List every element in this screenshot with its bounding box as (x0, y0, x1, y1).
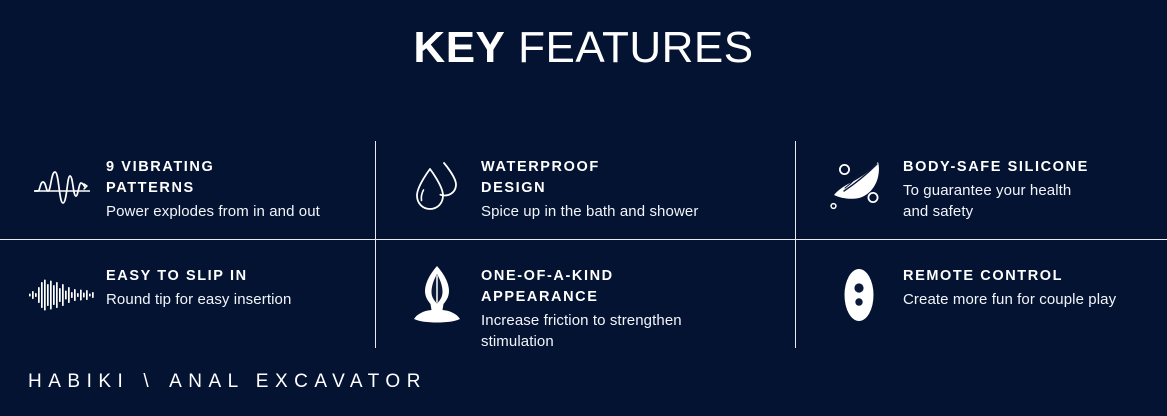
page-title-bold: KEY (413, 23, 505, 72)
feature-text: REMOTE CONTROL Create more fun for coupl… (903, 264, 1116, 310)
feature-cell-one-of-a-kind-appearance: ONE-OF-A-KIND APPEARANCE Increase fricti… (375, 239, 795, 348)
feature-title: EASY TO SLIP IN (106, 266, 291, 287)
feature-text: 9 VIBRATING PATTERNS Power explodes from… (106, 155, 320, 222)
footer-brand: HABIKI (28, 371, 129, 392)
feature-title: BODY-SAFE SILICONE (903, 157, 1089, 178)
feature-cell-remote-control: REMOTE CONTROL Create more fun for coupl… (795, 239, 1167, 348)
feature-cell-easy-to-slip-in: EASY TO SLIP IN Round tip for easy inser… (0, 239, 375, 348)
feature-title: 9 VIBRATING PATTERNS (106, 157, 320, 199)
feature-title: WATERPROOF DESIGN (481, 157, 698, 199)
feature-text: BODY-SAFE SILICONE To guarantee your hea… (903, 155, 1089, 222)
feature-description: Spice up in the bath and shower (481, 201, 698, 222)
feature-description: Power explodes from in and out (106, 201, 320, 222)
water-droplets-icon (401, 155, 473, 217)
feature-cell-waterproof-design: WATERPROOF DESIGN Spice up in the bath a… (375, 141, 795, 239)
feature-cell-vibrating-patterns: 9 VIBRATING PATTERNS Power explodes from… (0, 141, 375, 239)
page-header: KEY FEATURES (0, 0, 1167, 70)
feature-description: To guarantee your health and safety (903, 180, 1089, 222)
feature-description: Round tip for easy insertion (106, 289, 291, 310)
footer-product: ANAL EXCAVATOR (169, 371, 427, 392)
feature-text: WATERPROOF DESIGN Spice up in the bath a… (481, 155, 698, 222)
footer-separator: \ (129, 371, 169, 393)
features-grid: 9 VIBRATING PATTERNS Power explodes from… (0, 141, 1167, 348)
remote-control-icon (823, 264, 895, 326)
waveform-pattern-icon (26, 155, 98, 217)
feather-icon (823, 155, 895, 217)
footer-brand-line: HABIKI\ANAL EXCAVATOR (28, 371, 427, 393)
audio-bars-icon (26, 264, 98, 326)
feature-title: ONE-OF-A-KIND APPEARANCE (481, 266, 682, 308)
feature-text: ONE-OF-A-KIND APPEARANCE Increase fricti… (481, 264, 682, 352)
page-title: KEY FEATURES (0, 26, 1167, 70)
feature-title: REMOTE CONTROL (903, 266, 1116, 287)
page-title-light: FEATURES (505, 23, 753, 72)
plug-shape-icon (401, 264, 473, 326)
feature-description: Create more fun for couple play (903, 289, 1116, 310)
feature-text: EASY TO SLIP IN Round tip for easy inser… (106, 264, 291, 310)
feature-description: Increase friction to strengthen stimulat… (481, 310, 682, 352)
feature-cell-body-safe-silicone: BODY-SAFE SILICONE To guarantee your hea… (795, 141, 1167, 239)
